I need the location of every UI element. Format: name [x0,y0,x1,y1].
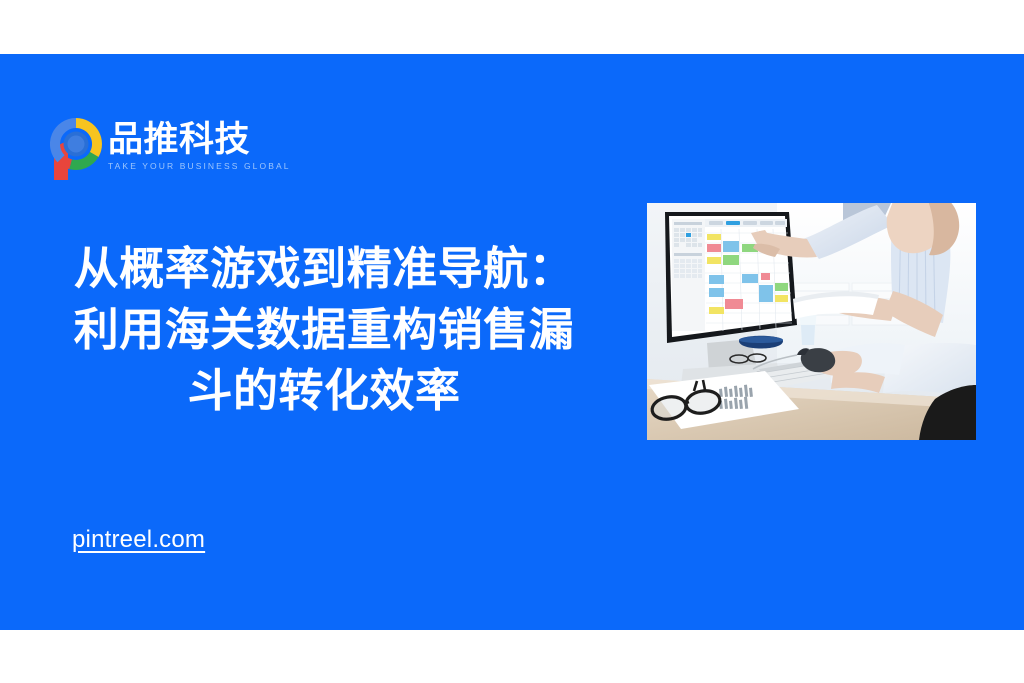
website-url-link[interactable]: pintreel.com [72,526,205,554]
page-title: 从概率游戏到精准导航： 利用海关数据重构销售漏 斗的转化效率 [24,238,624,422]
pintreel-circular-a-logo-icon [50,118,102,180]
brand-logo[interactable]: 品推科技 TAKE YOUR BUSINESS GLOBAL [50,118,291,180]
brand-name: 品推科技 [108,122,291,159]
brand-text-group: 品推科技 TAKE YOUR BUSINESS GLOBAL [108,118,291,171]
title-line-2: 利用海关数据重构销售漏 [24,299,624,360]
office-photo [647,203,976,440]
title-line-1: 从概率游戏到精准导航： [24,238,624,299]
title-line-3: 斗的转化效率 [24,360,624,421]
slide-canvas: 品推科技 TAKE YOUR BUSINESS GLOBAL 从概率游戏到精准导… [0,0,1024,683]
brand-tagline: TAKE YOUR BUSINESS GLOBAL [108,161,291,171]
